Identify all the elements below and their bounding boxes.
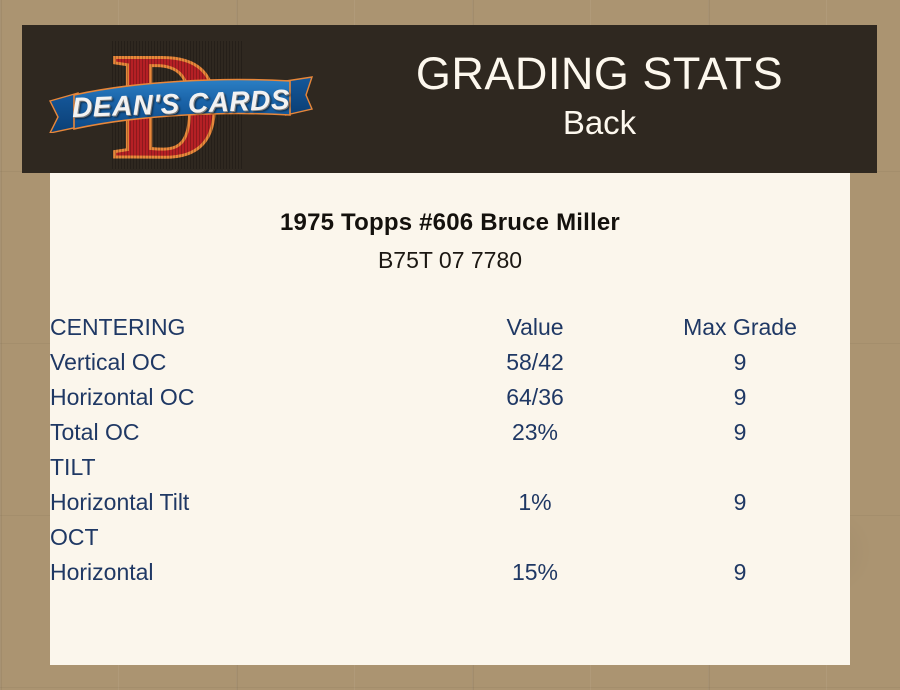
stat-label: Total OC xyxy=(50,415,440,450)
card-title: 1975 Topps #606 Bruce Miller xyxy=(50,209,850,237)
stat-max-grade: 9 xyxy=(630,415,850,450)
stats-section-row: OCT xyxy=(50,520,850,555)
stat-value: 64/36 xyxy=(440,380,630,415)
table-header-row: CENTERING Value Max Grade xyxy=(50,310,850,345)
stats-table-head: CENTERING Value Max Grade xyxy=(50,310,850,345)
stats-section-label: OCT xyxy=(50,520,440,555)
stat-value: 23% xyxy=(440,415,630,450)
logo-ribbon-text: DEAN'S CARDS xyxy=(47,70,315,138)
table-row: Horizontal Tilt1%9 xyxy=(50,485,850,520)
logo-ribbon-banner: DEAN'S CARDS xyxy=(48,75,314,133)
header-bar: D xyxy=(22,25,877,173)
content-panel: 1975 Topps #606 Bruce Miller B75T 07 778… xyxy=(50,173,850,665)
stat-label: Horizontal Tilt xyxy=(50,485,440,520)
page-title: GRADING STATS xyxy=(322,47,877,101)
table-row: Horizontal OC64/369 xyxy=(50,380,850,415)
stats-section-label: TILT xyxy=(50,450,440,485)
stat-label: Horizontal OC xyxy=(50,380,440,415)
table-row: Total OC23%9 xyxy=(50,415,850,450)
stats-section-grade-spacer xyxy=(630,520,850,555)
table-row: Horizontal15%9 xyxy=(50,555,850,590)
stat-label: Vertical OC xyxy=(50,345,440,380)
column-header-category: CENTERING xyxy=(50,310,440,345)
column-header-max-grade: Max Grade xyxy=(630,310,850,345)
stats-section-row: TILT xyxy=(50,450,850,485)
stats-table-body: Vertical OC58/429Horizontal OC64/369Tota… xyxy=(50,345,850,590)
stat-value: 1% xyxy=(440,485,630,520)
stat-max-grade: 9 xyxy=(630,380,850,415)
stat-max-grade: 9 xyxy=(630,485,850,520)
stats-section-grade-spacer xyxy=(630,450,850,485)
header-title-group: GRADING STATS Back xyxy=(322,47,877,145)
table-row: Vertical OC58/429 xyxy=(50,345,850,380)
page-subtitle: Back xyxy=(322,101,877,145)
grading-stats-table: CENTERING Value Max Grade Vertical OC58/… xyxy=(50,310,850,590)
stat-label: Horizontal xyxy=(50,555,440,590)
card-serial-number: B75T 07 7780 xyxy=(50,247,850,274)
stat-max-grade: 9 xyxy=(630,345,850,380)
stats-section-value-spacer xyxy=(440,520,630,555)
stats-section-value-spacer xyxy=(440,450,630,485)
stat-max-grade: 9 xyxy=(630,555,850,590)
column-header-value: Value xyxy=(440,310,630,345)
deans-cards-logo: D xyxy=(46,29,316,171)
stat-value: 15% xyxy=(440,555,630,590)
stat-value: 58/42 xyxy=(440,345,630,380)
